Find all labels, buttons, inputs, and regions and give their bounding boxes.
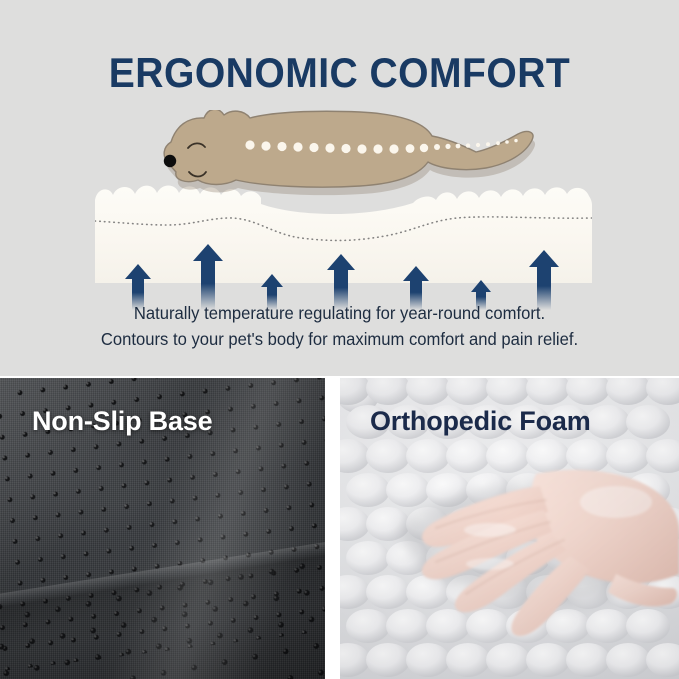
- product-infographic: ERGONOMIC COMFORT: [0, 0, 679, 679]
- panel-label-non-slip-base: Non-Slip Base: [32, 406, 212, 437]
- description-line-1: Naturally temperature regulating for yea…: [17, 300, 662, 326]
- panel-orthopedic-foam: Orthopedic Foam: [340, 378, 679, 679]
- dog-nose: [164, 155, 176, 167]
- illustration-stage: [0, 110, 679, 295]
- description-line-2: Contours to your pet's body for maximum …: [17, 326, 662, 352]
- dog-illustration: [132, 110, 572, 225]
- support-arrows: [95, 235, 592, 310]
- page-title: ERGONOMIC COMFORT: [24, 49, 655, 97]
- feature-panels: Non-Slip Base: [0, 378, 679, 679]
- panel-label-orthopedic-foam: Orthopedic Foam: [370, 406, 591, 437]
- dog-svg: [132, 110, 572, 225]
- ergonomic-comfort-panel: ERGONOMIC COMFORT: [0, 0, 679, 376]
- hero-description: Naturally temperature regulating for yea…: [17, 300, 662, 352]
- panel-non-slip-base: Non-Slip Base: [0, 378, 325, 679]
